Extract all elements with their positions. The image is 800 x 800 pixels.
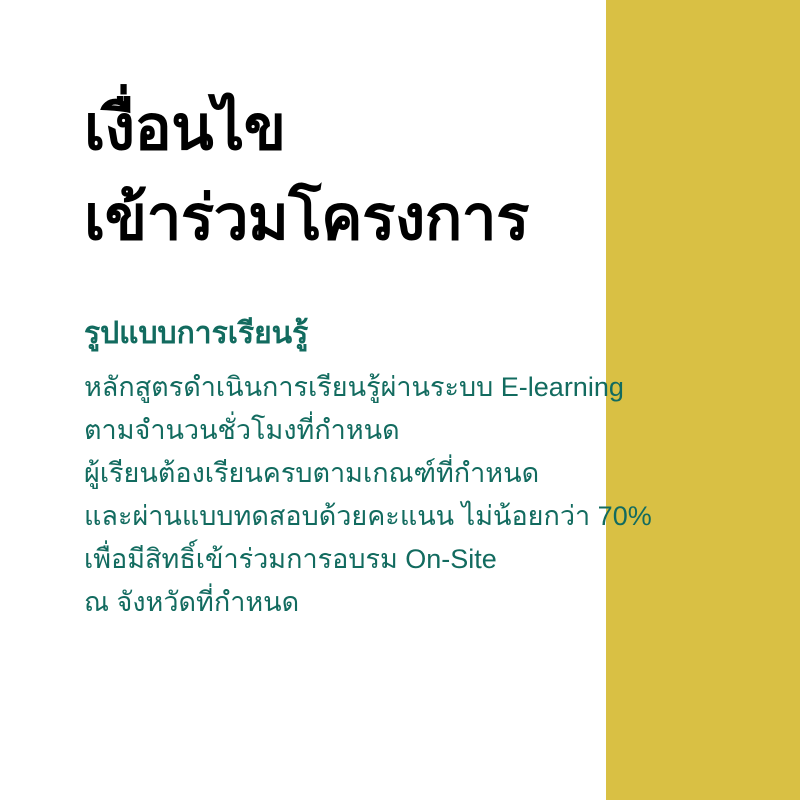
body-line-1: หลักสูตรดำเนินการเรียนรู้ผ่านระบบ E-lear…	[84, 366, 600, 409]
section-subheading: รูปแบบการเรียนรู้	[84, 312, 600, 356]
body-block: รูปแบบการเรียนรู้ หลักสูตรดำเนินการเรียน…	[84, 312, 600, 624]
right-yellow-accent-panel	[606, 0, 800, 800]
headline-line-1: เงื่อนไข	[84, 84, 600, 174]
body-line-3: ผู้เรียนต้องเรียนครบตามเกณฑ์ที่กำหนด	[84, 452, 600, 495]
body-line-6: ณ จังหวัดที่กำหนด	[84, 581, 600, 624]
headline-line-2: เข้าร่วมโครงการ	[84, 174, 600, 264]
content-column: เงื่อนไข เข้าร่วมโครงการ รูปแบบการเรียนร…	[84, 0, 600, 800]
body-text: หลักสูตรดำเนินการเรียนรู้ผ่านระบบ E-lear…	[84, 366, 600, 624]
body-line-5: เพื่อมีสิทธิ์เข้าร่วมการอบรม On-Site	[84, 538, 600, 581]
body-line-4: และผ่านแบบทดสอบด้วยคะแนน ไม่น้อยกว่า 70%	[84, 495, 600, 538]
body-line-2: ตามจำนวนชั่วโมงที่กำหนด	[84, 409, 600, 452]
page-title: เงื่อนไข เข้าร่วมโครงการ	[84, 84, 600, 264]
slide-canvas: เงื่อนไข เข้าร่วมโครงการ รูปแบบการเรียนร…	[0, 0, 800, 800]
